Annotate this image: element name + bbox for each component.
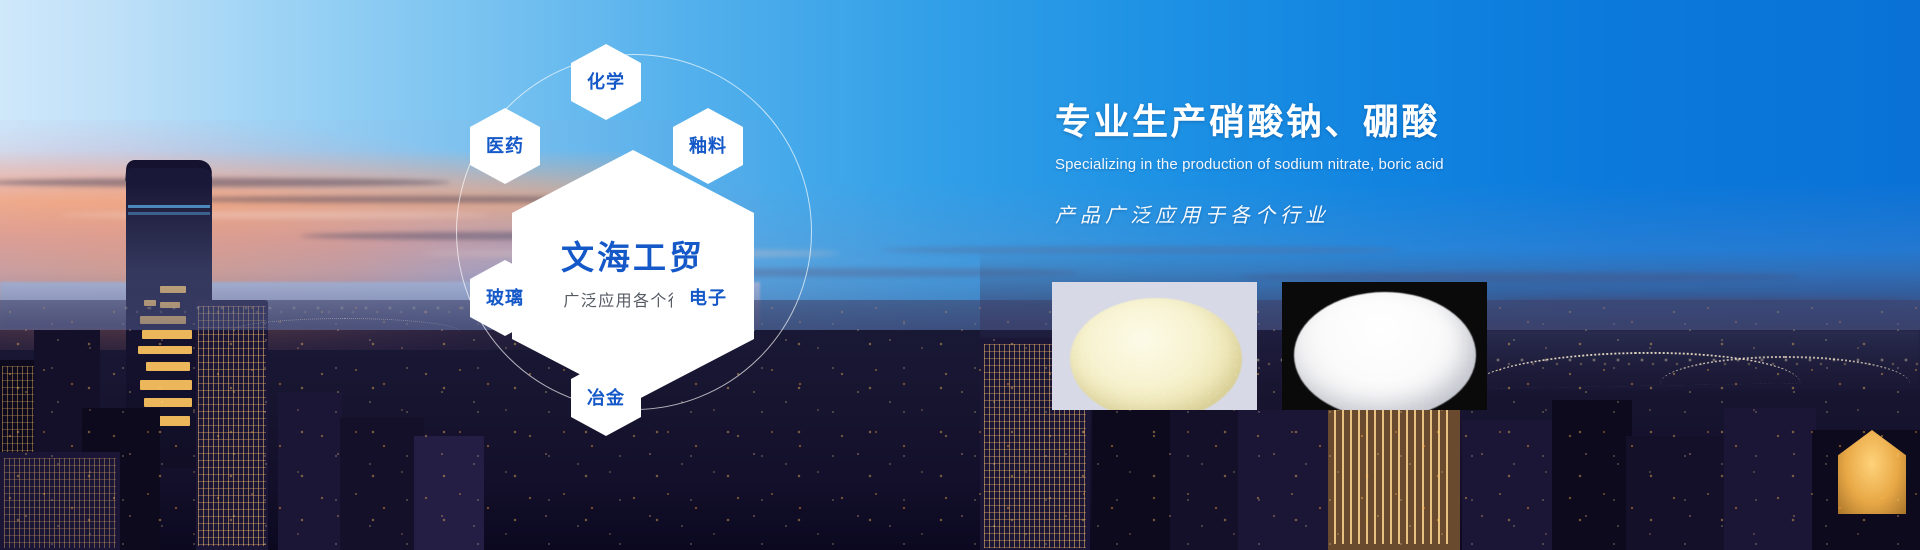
promo-banner: 文海工贸 广泛应用各个行业 化学 釉料 电子 冶金 玻璃 医药 专业生产硝酸钠、… — [0, 0, 1920, 550]
hex-label: 釉料 — [689, 137, 727, 155]
hex-label: 玻璃 — [486, 289, 524, 307]
product-photo-sodium-nitrate — [1052, 282, 1257, 410]
banner-copy-block: 专业生产硝酸钠、硼酸 Specializing in the productio… — [1055, 100, 1735, 228]
powder-grain-texture — [1294, 292, 1476, 410]
cityscape-background — [0, 0, 1920, 550]
hex-label: 医药 — [486, 137, 524, 155]
product-photo-boric-acid — [1282, 282, 1487, 410]
hex-label: 冶金 — [587, 389, 625, 407]
hex-label: 化学 — [587, 73, 625, 91]
hex-label: 电子 — [689, 289, 727, 307]
brand-name: 文海工贸 — [561, 241, 705, 274]
subheadline-english: Specializing in the production of sodium… — [1055, 156, 1735, 173]
headline: 专业生产硝酸钠、硼酸 — [1055, 100, 1735, 145]
tagline: 产品广泛应用于各个行业 — [1055, 199, 1735, 228]
powder-grain-texture — [1070, 298, 1242, 410]
industry-hex-diagram: 文海工贸 广泛应用各个行业 化学 釉料 电子 冶金 玻璃 医药 — [430, 22, 850, 442]
